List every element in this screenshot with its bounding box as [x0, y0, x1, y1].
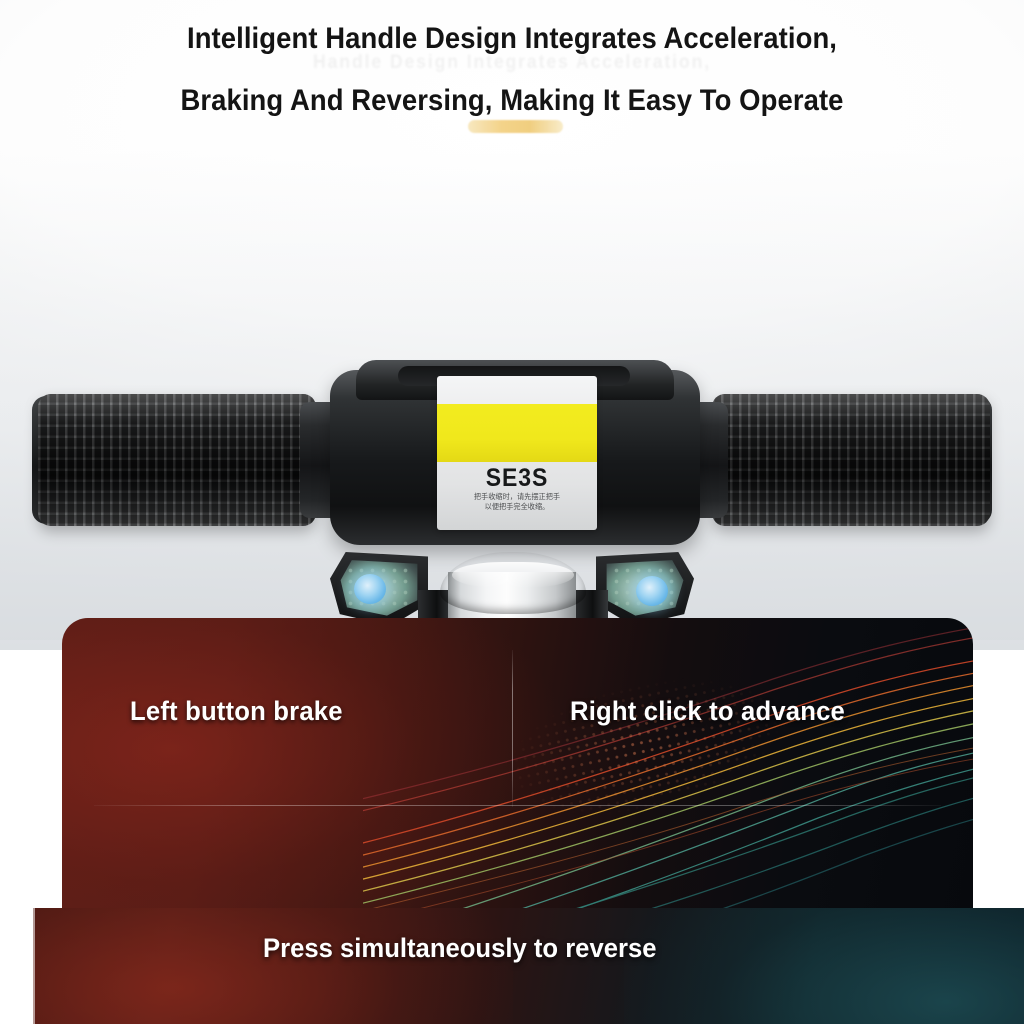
- reverse-banner-left-edge: [33, 908, 35, 1024]
- label-yellow-band: [437, 404, 597, 462]
- caption-press-simultaneously: Press simultaneously to reverse: [263, 933, 656, 964]
- banner-vertical-divider: [512, 650, 513, 807]
- thumb-button-left-led: [354, 574, 386, 604]
- caption-left-button-brake: Left button brake: [130, 696, 343, 727]
- handlebar-grip-right: [712, 394, 990, 526]
- info-banner: Left button brake Right click to advance: [62, 618, 973, 918]
- handlebar-grip-left: [38, 394, 316, 526]
- reverse-banner: Press simultaneously to reverse: [33, 908, 1024, 1024]
- brand-label-panel: SE3S 把手收缩时，请先摆正把手 以便把手完全收缩。: [437, 376, 597, 530]
- label-notice-line1: 把手收缩时，请先摆正把手: [474, 492, 560, 501]
- banner-horizontal-divider: [94, 805, 941, 806]
- thumb-button-right-led: [636, 576, 668, 606]
- caption-right-click-advance: Right click to advance: [570, 696, 845, 727]
- product-photo-handlebar: SE3S 把手收缩时，请先摆正把手 以便把手完全收缩。: [0, 170, 1024, 640]
- thumb-button-right-throttle[interactable]: [596, 552, 694, 626]
- brand-name-text: SE3S: [443, 464, 590, 493]
- stem-collar-highlight: [452, 562, 574, 588]
- label-notice-text: 把手收缩时，请先摆正把手 以便把手完全收缩。: [437, 492, 597, 511]
- page-title-line1: Intelligent Handle Design Integrates Acc…: [36, 8, 988, 70]
- reverse-banner-red-glow: [33, 908, 513, 1024]
- accent-underline: [468, 120, 563, 133]
- product-marketing-image: Handle Design Integrates Acceleration, I…: [0, 0, 1024, 1024]
- page-title: Intelligent Handle Design Integrates Acc…: [36, 8, 988, 132]
- reverse-banner-teal-glow: [624, 908, 1024, 1024]
- label-notice-line2: 以便把手完全收缩。: [485, 502, 550, 511]
- thumb-button-left-brake[interactable]: [330, 552, 428, 626]
